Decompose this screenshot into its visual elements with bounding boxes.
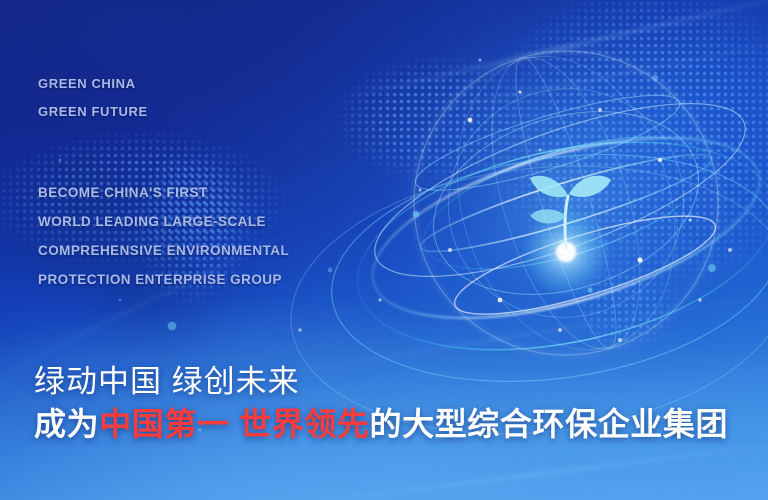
english-top-slogan: GREEN CHINA GREEN FUTURE bbox=[38, 70, 148, 126]
headline-suffix: 的大型综合环保企业集团 bbox=[370, 406, 729, 442]
chinese-headline-line1: 绿动中国 绿创未来 bbox=[34, 362, 728, 402]
slogan-line: COMPREHENSIVE ENVIRONMENTAL bbox=[38, 236, 289, 265]
slogan-line: GREEN FUTURE bbox=[38, 98, 148, 126]
slogan-line: WORLD LEADING LARGE-SCALE bbox=[38, 207, 289, 236]
chinese-headline-line2: 成为中国第一 世界领先的大型综合环保企业集团 bbox=[34, 402, 728, 446]
promo-banner: GREEN CHINA GREEN FUTURE BECOME CHINA'S … bbox=[0, 0, 768, 500]
english-main-slogan: BECOME CHINA'S FIRST WORLD LEADING LARGE… bbox=[38, 178, 289, 294]
headline-prefix: 成为 bbox=[34, 406, 99, 442]
headline-highlight: 中国第一 世界领先 bbox=[99, 406, 369, 442]
slogan-line: BECOME CHINA'S FIRST bbox=[38, 178, 289, 207]
slogan-line: PROTECTION ENTERPRISE GROUP bbox=[38, 265, 289, 294]
slogan-line: GREEN CHINA bbox=[38, 70, 148, 98]
chinese-headline: 绿动中国 绿创未来 成为中国第一 世界领先的大型综合环保企业集团 bbox=[34, 362, 728, 446]
